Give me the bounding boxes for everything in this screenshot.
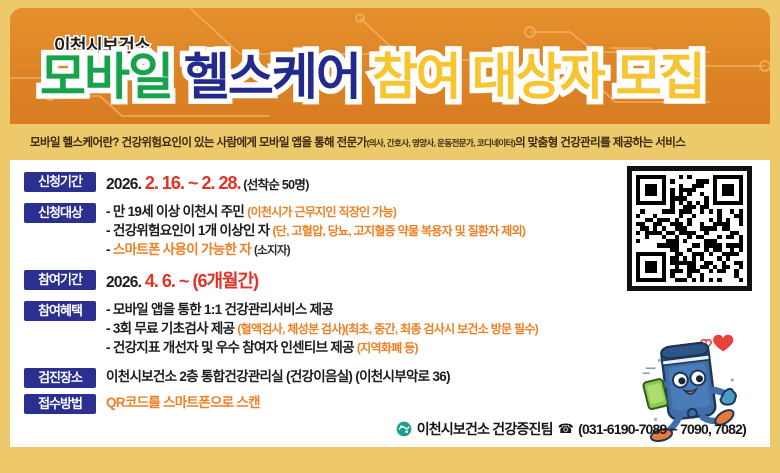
text-segment: 4. 6. ~ (6개월간) (145, 271, 258, 291)
text-segment: 2. 16. ~ 2. 28. (145, 173, 241, 193)
subtitle-main-2: 의 맞춤형 건강관리를 제공하는 서비스 (515, 137, 685, 149)
text-segment: 스마트폰 사용이 가능한 자 (113, 242, 254, 257)
phone-icon: ☎ (558, 421, 573, 437)
text-segment: 이천시보건소 2층 통합건강관리실 (건강이음실) (이천시부악로 36) (106, 369, 450, 384)
row-badge: 참여혜택 (24, 301, 96, 321)
text-segment: - 모바일 앱을 통한 1:1 건강관리서비스 제공 (106, 302, 333, 317)
poster-root: 이천시보건소 모바일 헬스케어 참여 대상자 모집 모바일 헬스케어란? 건강위… (0, 0, 780, 473)
row-line: 이천시보건소 2층 통합건강관리실 (건강이음실) (이천시부악로 36) (106, 367, 450, 386)
row-line: QR코드를 스마트폰으로 스캔 (106, 393, 260, 412)
row-content: QR코드를 스마트폰으로 스캔 (106, 392, 260, 412)
subtitle-text: 모바일 헬스케어란? 건강위험요인이 있는 사람에게 모바일 앱을 통해 전문가… (30, 134, 685, 150)
row-badge: 접수방법 (24, 394, 96, 414)
row-line: - 3회 무료 기초검사 제공 (혈액검사, 체성분 검사)(최초, 중간, 최… (106, 319, 538, 338)
text-segment: - 만 19세 이상 이천시 주민 (106, 204, 247, 219)
text-segment: QR코드를 스마트폰으로 스캔 (106, 395, 260, 410)
title-part-mobile: 모바일 (40, 49, 172, 105)
row-content: 2026. 2. 16. ~ 2. 28. (선착순 50명) (106, 170, 309, 197)
row-badge: 검진장소 (24, 368, 96, 388)
row-line: 2026. 2. 16. ~ 2. 28. (선착순 50명) (106, 171, 309, 197)
row-badge: 신청대상 (24, 203, 96, 223)
row-line: - 만 19세 이상 이천시 주민 (이천시가 근무지인 직장인 가능) (106, 202, 525, 221)
row-line: - 건강지표 개선자 및 우수 참여자 인센티브 제공 (지역화폐 등) (106, 338, 538, 357)
row-content: - 만 19세 이상 이천시 주민 (이천시가 근무지인 직장인 가능)- 건강… (106, 201, 525, 260)
poster-body: 신청기간2026. 2. 16. ~ 2. 28. (선착순 50명)신청대상-… (10, 160, 770, 447)
text-segment: (단, 고혈압, 당뇨, 고지혈증 약물 복용자 및 질환자 제외) (273, 224, 526, 238)
title-part-recruit: 참여 대상자 모집 (372, 49, 704, 105)
text-segment: 2026. (106, 274, 145, 291)
row-content: 이천시보건소 2층 통합건강관리실 (건강이음실) (이천시부악로 36) (106, 366, 450, 386)
text-segment: (소지자) (254, 245, 290, 257)
title-part-healthcare: 헬스케어 (184, 49, 360, 105)
row-badge: 참여기간 (24, 270, 96, 290)
row-badge: 신청기간 (24, 172, 96, 192)
qr-code-modules (636, 175, 743, 282)
poster-header: 이천시보건소 모바일 헬스케어 참여 대상자 모집 (10, 8, 770, 124)
row-line: 2026. 4. 6. ~ (6개월간) (106, 269, 258, 295)
footer-office: 이천시보건소 건강증진팀 (417, 419, 553, 439)
row-content: 2026. 4. 6. ~ (6개월간) (106, 268, 258, 295)
poster-title: 모바일 헬스케어 참여 대상자 모집 (40, 52, 704, 102)
footer-contact: 이천시보건소 건강증진팀 ☎ (031-6190-7089 ~ 7090, 70… (396, 419, 746, 439)
text-segment: - (106, 242, 113, 257)
text-segment: (이천시가 근무지인 직장인 가능) (247, 205, 396, 219)
subtitle-lead: 모바일 헬스케어란? (30, 137, 119, 149)
footer-phone: (031-6190-7089 ~ 7090, 7082) (578, 421, 746, 437)
row-line: - 모바일 앱을 통한 1:1 건강관리서비스 제공 (106, 300, 538, 319)
qr-code[interactable] (627, 166, 752, 291)
text-segment: - 건강위험요인이 1개 이상인 자 (106, 223, 273, 238)
text-segment: - 3회 무료 기초검사 제공 (106, 321, 237, 336)
subtitle-experts: (의사, 간호사, 영양사, 운동전문가, 코디네이터) (367, 138, 516, 148)
subtitle-bar: 모바일 헬스케어란? 건강위험요인이 있는 사람에게 모바일 앱을 통해 전문가… (10, 124, 770, 160)
text-segment: - 건강지표 개선자 및 우수 참여자 인센티브 제공 (106, 340, 357, 355)
subtitle-main-1: 건강위험요인이 있는 사람에게 모바일 앱을 통해 전문가 (121, 137, 366, 149)
row-line: - 스마트폰 사용이 가능한 자 (소지자) (106, 240, 525, 259)
text-segment: (선착순 50명) (241, 178, 309, 192)
text-segment: (최초, 중간, 최종 검사시 보건소 방문 필수) (345, 322, 538, 336)
health-center-logo-icon (396, 421, 412, 437)
row-content: - 모바일 앱을 통한 1:1 건강관리서비스 제공- 3회 무료 기초검사 제… (106, 299, 538, 357)
text-segment: (혈액검사, 체성분 검사) (237, 322, 345, 336)
text-segment: 2026. (106, 176, 145, 193)
row-line: - 건강위험요인이 1개 이상인 자 (단, 고혈압, 당뇨, 고지혈증 약물 … (106, 221, 525, 240)
text-segment: (지역화폐 등) (357, 341, 418, 355)
